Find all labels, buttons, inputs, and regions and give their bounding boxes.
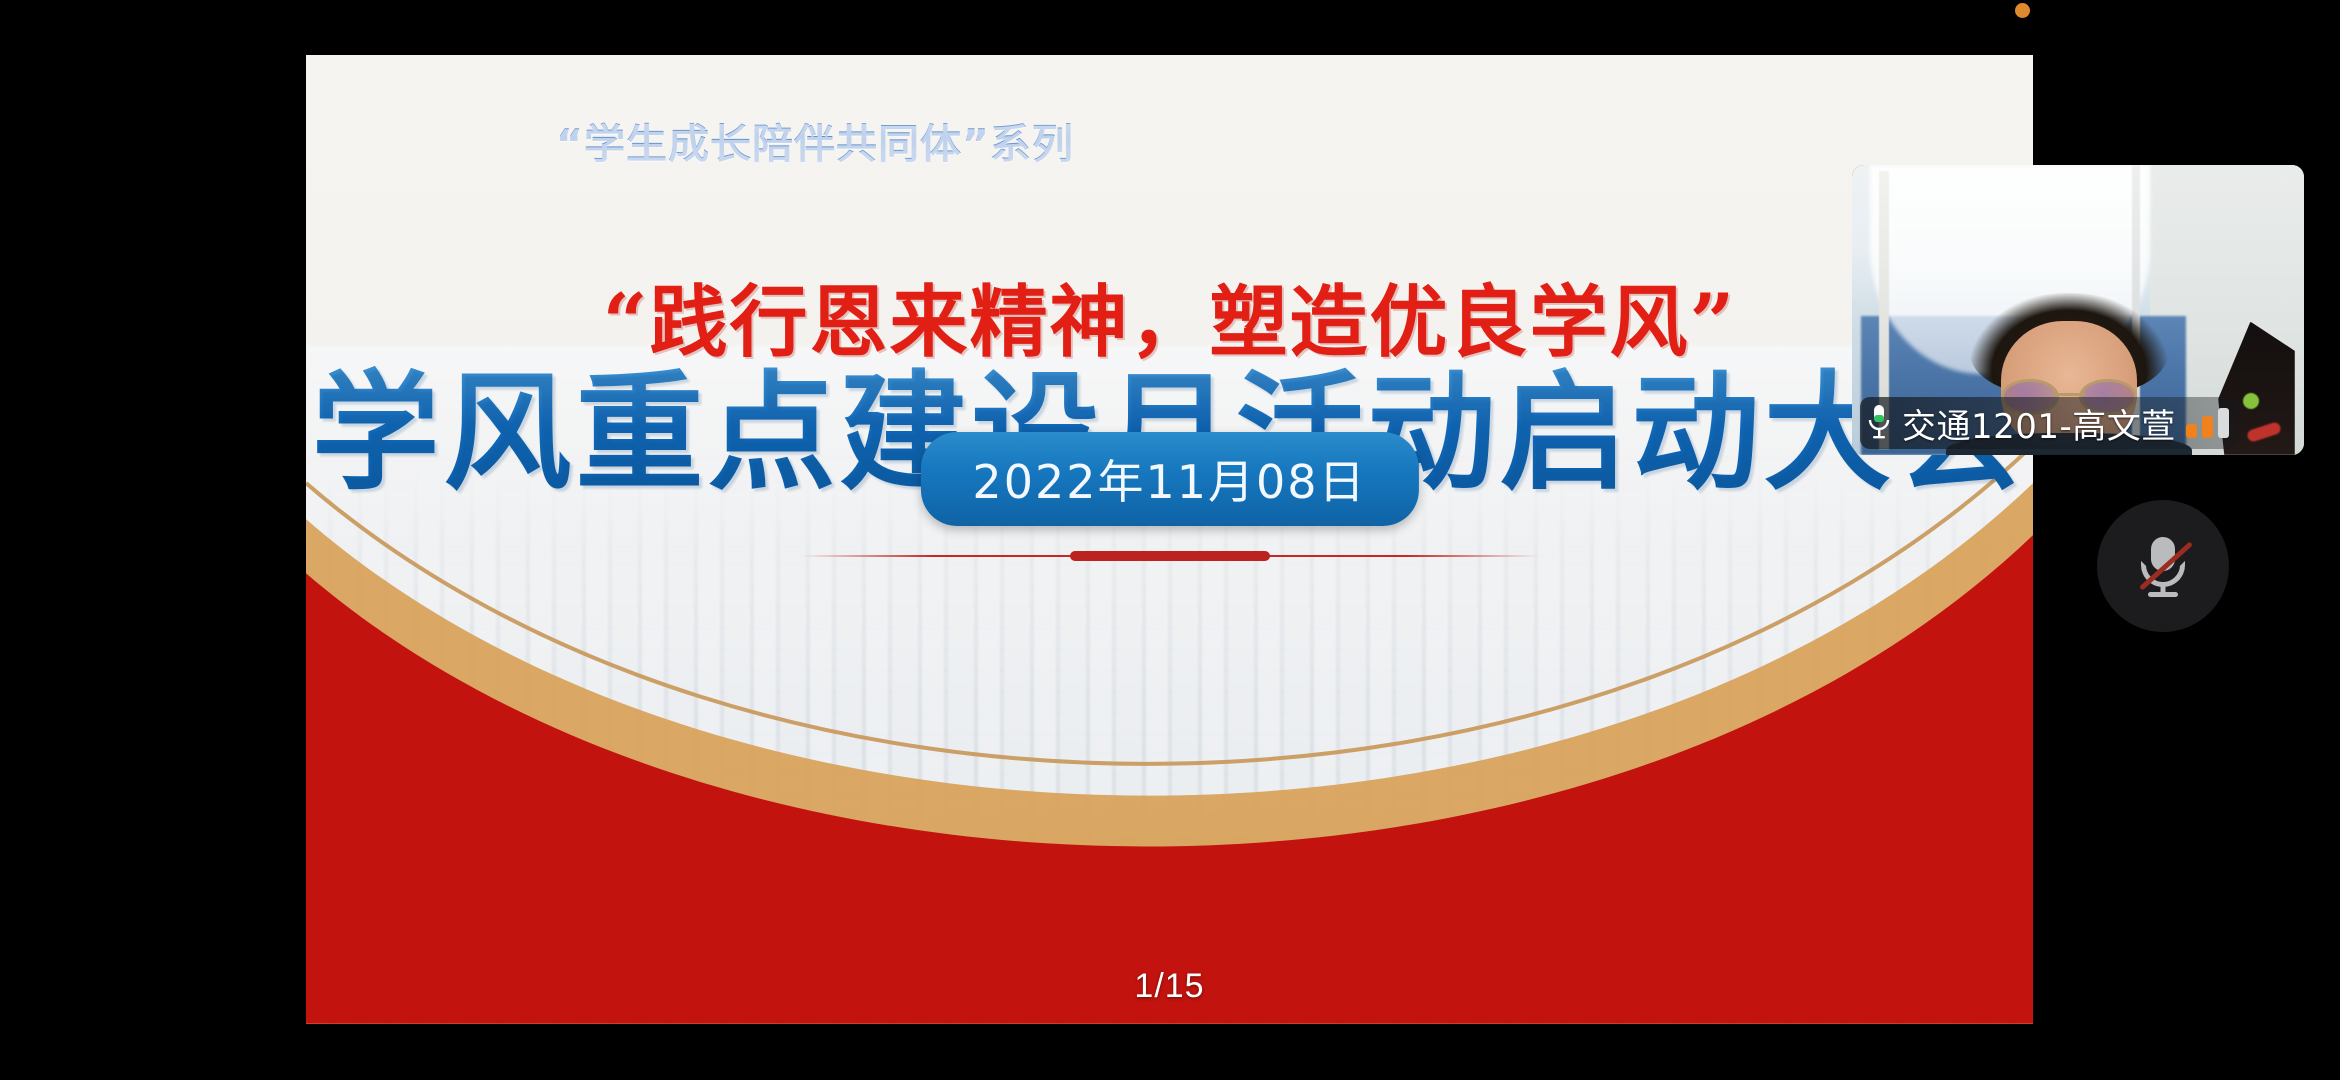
signal-bars-icon: [2186, 408, 2229, 438]
signal-bar-2: [2202, 416, 2213, 438]
slide-page-indicator: 1/15: [1134, 967, 1204, 1006]
slide-divider: [800, 549, 1540, 563]
slide-headline-red: “践行恩来精神，塑造优良学风”: [306, 260, 2033, 372]
microphone-icon: [1866, 404, 1892, 442]
glasses-bridge: [2053, 393, 2085, 396]
slide-series-label: “学生成长陪伴共同体”系列: [556, 110, 1074, 170]
divider-center-bar: [1070, 551, 1270, 561]
shared-slide[interactable]: “学生成长陪伴共同体”系列 “践行恩来精神，塑造优良学风” 学风重点建设月活动启…: [306, 55, 2033, 1024]
participant-video-tile[interactable]: 交通1201-高文萱: [1852, 165, 2304, 455]
recording-indicator-icon: [2015, 3, 2030, 18]
signal-bar-3: [2218, 408, 2229, 438]
mute-button[interactable]: [2097, 500, 2229, 632]
microphone-muted-icon: [2134, 535, 2192, 597]
participant-name-bar: 交通1201-高文萱: [1860, 397, 2239, 449]
mic-base: [2148, 592, 2178, 597]
slide-date-badge: 2022年11月08日: [920, 432, 1418, 526]
participant-name: 交通1201-高文萱: [1902, 399, 2176, 448]
video-plush-toy-accent: [2243, 393, 2259, 409]
signal-bar-1: [2186, 424, 2197, 438]
meeting-screen: “学生成长陪伴共同体”系列 “践行恩来精神，塑造优良学风” 学风重点建设月活动启…: [0, 0, 2340, 1080]
